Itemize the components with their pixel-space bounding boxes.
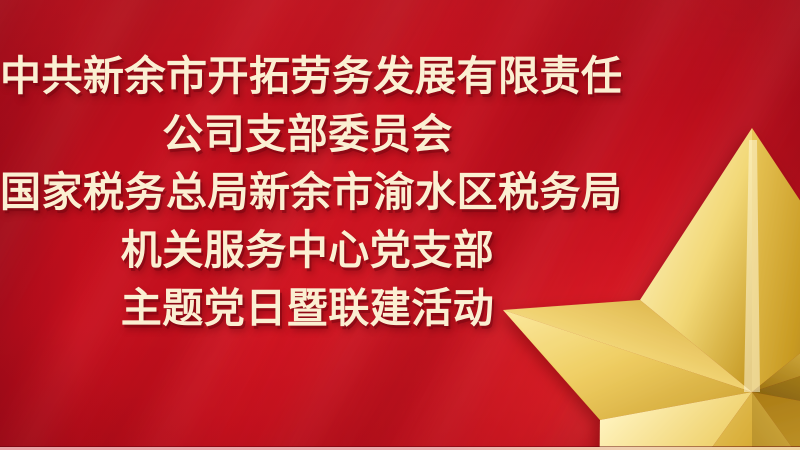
- title-line-2: 公司支部委员会: [0, 105, 615, 163]
- title-line-3: 国家税务总局新余市渝水区税务局: [0, 163, 615, 221]
- banner-canvas: 中共新余市开拓劳务发展有限责任 公司支部委员会 国家税务总局新余市渝水区税务局 …: [0, 0, 800, 450]
- title-line-4: 机关服务中心党支部: [0, 221, 615, 279]
- banner-title-block: 中共新余市开拓劳务发展有限责任 公司支部委员会 国家税务总局新余市渝水区税务局 …: [0, 47, 615, 337]
- title-line-1: 中共新余市开拓劳务发展有限责任: [0, 47, 615, 105]
- title-line-5: 主题党日暨联建活动: [0, 279, 615, 337]
